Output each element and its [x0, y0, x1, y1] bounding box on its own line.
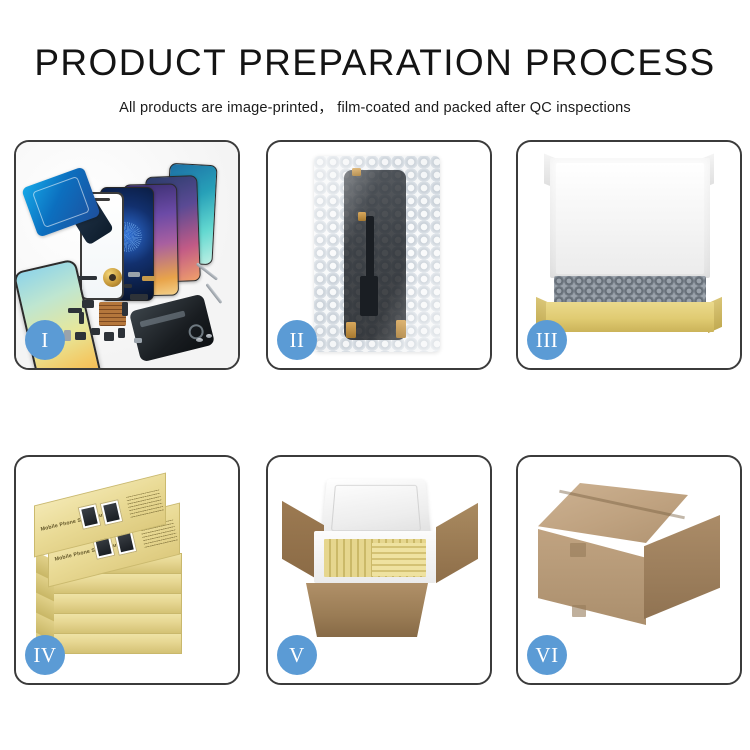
carton-front-icon [306, 583, 428, 637]
process-step-card-3: III [516, 140, 742, 370]
page-subtitle: All products are image-printed， film-coa… [0, 83, 750, 117]
stacked-box-icon [52, 613, 182, 634]
white-foam-liner-icon [550, 158, 710, 278]
screw-icon [206, 334, 212, 338]
badge-roman-1: I [25, 320, 65, 360]
spare-part-icon [122, 302, 128, 316]
badge-roman-3: III [527, 320, 567, 360]
carton-left-face-icon [538, 529, 646, 625]
product-preparation-infographic: PRODUCT PREPARATION PROCESS All products… [0, 0, 750, 750]
carton-flap-right-icon [436, 503, 478, 583]
page-title: PRODUCT PREPARATION PROCESS [0, 0, 750, 83]
spare-part-icon [64, 330, 71, 341]
stacked-box-icon [52, 593, 182, 614]
carton-tape-strip-icon [572, 605, 586, 617]
process-step-card-6: VI [516, 455, 742, 685]
header: PRODUCT PREPARATION PROCESS All products… [0, 0, 750, 117]
packed-boxes-icon [372, 543, 426, 576]
process-step-card-2: II [266, 140, 492, 370]
flex-cable-icon [360, 276, 378, 316]
spare-part-icon [104, 332, 114, 341]
bubble-wrapped-contents-icon [554, 276, 706, 304]
spare-part-icon [142, 276, 155, 281]
spare-part-icon [134, 338, 142, 343]
badge-roman-2: II [277, 320, 317, 360]
spare-part-icon [78, 276, 97, 280]
badge-roman-5: V [277, 635, 317, 675]
gold-connector-icon [396, 320, 406, 338]
spare-part-icon [82, 300, 94, 308]
stacked-box-icon [52, 633, 182, 654]
kraft-box-front-icon [546, 302, 714, 332]
gold-connector-icon [352, 168, 361, 176]
process-steps-grid: I II [14, 140, 736, 690]
screw-icon [196, 338, 203, 342]
gold-connector-icon [358, 212, 366, 221]
spare-part-icon [124, 284, 132, 288]
speaker-coil-icon [103, 268, 122, 287]
carton-tape-strip-icon [570, 543, 586, 557]
badge-roman-6: VI [527, 635, 567, 675]
spare-part-icon [130, 294, 148, 300]
process-step-card-1: I [14, 140, 240, 370]
spare-part-icon [91, 328, 100, 335]
spare-part-icon [118, 328, 125, 338]
spare-part-icon [79, 312, 84, 324]
gold-connector-icon [346, 322, 356, 338]
process-step-card-4: Mobile Phone Spare Parts Mobile Phone Sp… [14, 455, 240, 685]
spare-part-icon [75, 332, 86, 340]
process-step-card-5: V [266, 455, 492, 685]
badge-roman-4: IV [25, 635, 65, 675]
spare-part-icon [128, 272, 140, 277]
foam-box-lid-icon [321, 479, 432, 539]
bubble-wrap-bag-icon [314, 156, 440, 352]
